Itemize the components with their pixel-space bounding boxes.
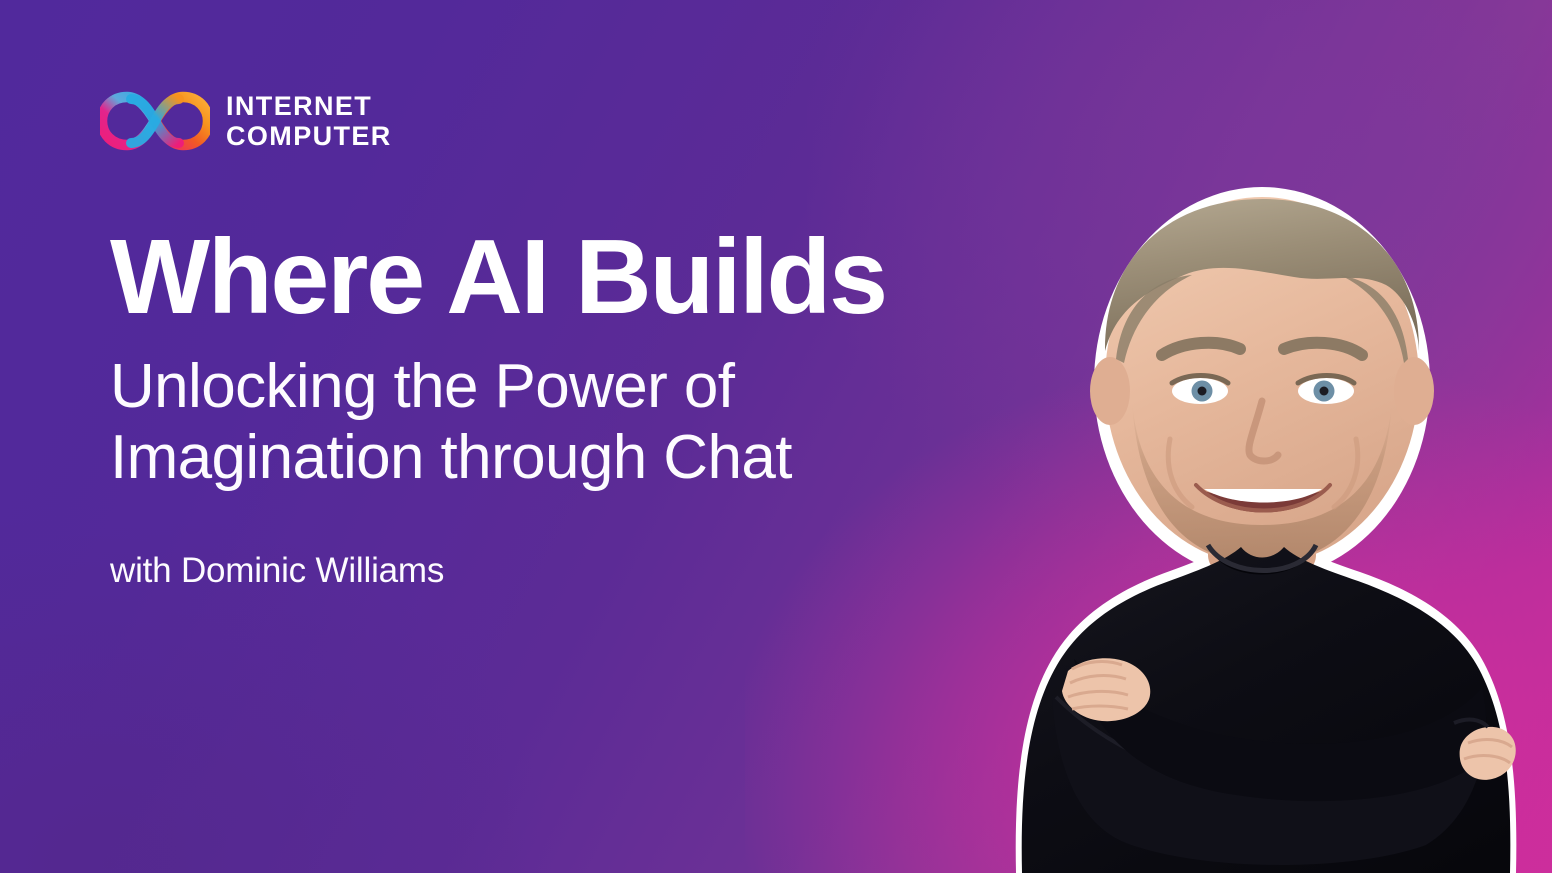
logo-wordmark-line2: COMPUTER bbox=[226, 123, 392, 150]
logo-wordmark-line1: INTERNET bbox=[226, 93, 392, 120]
subheadline-line-2: Imagination through Chat bbox=[110, 423, 1110, 494]
subheadline-line-1: Unlocking the Power of bbox=[110, 352, 1110, 423]
infinity-logo-icon bbox=[100, 88, 210, 154]
internet-computer-logo: INTERNET COMPUTER bbox=[100, 88, 392, 154]
presenter-credit: with Dominic Williams bbox=[110, 551, 1110, 591]
slide-copy-block: Where AI Builds Unlocking the Power of I… bbox=[110, 224, 1110, 591]
logo-wordmark: INTERNET COMPUTER bbox=[226, 93, 392, 150]
slide-headline: Where AI Builds bbox=[110, 224, 1110, 330]
slide-subheadline: Unlocking the Power of Imagination throu… bbox=[110, 352, 1110, 493]
presentation-slide: INTERNET COMPUTER Where AI Builds Unlock… bbox=[0, 0, 1552, 873]
